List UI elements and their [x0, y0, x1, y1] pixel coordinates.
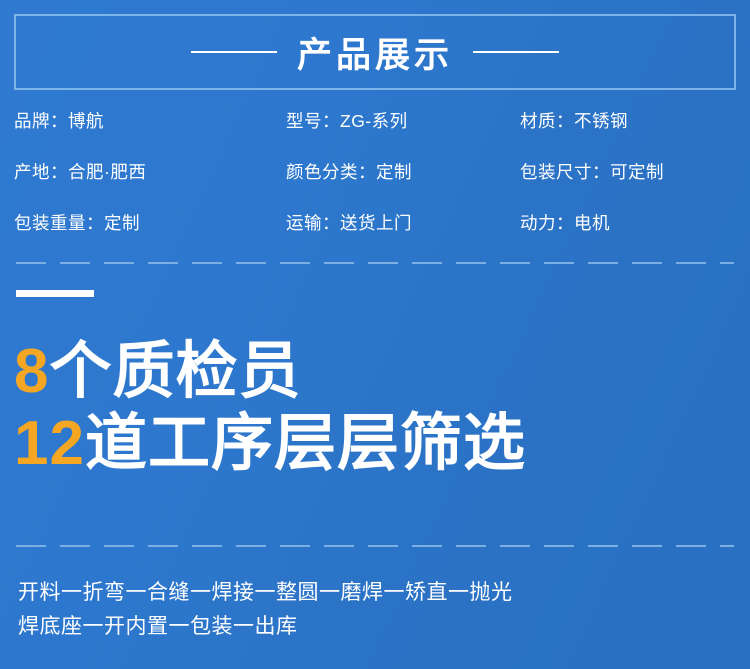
- spec-item-color: 颜色分类：定制: [286, 159, 520, 184]
- headline-block: 8个质检员 12道工序层层筛选: [14, 336, 734, 480]
- page-title: 产品展示: [297, 27, 453, 78]
- spec-item-model: 型号：ZG-系列: [286, 108, 520, 133]
- title-rule-right: [473, 51, 559, 53]
- headline-line-1: 8个质检员: [14, 336, 734, 408]
- spec-item-origin: 产地：合肥·肥西: [14, 159, 286, 184]
- spec-item-package-weight: 包装重量：定制: [14, 210, 286, 235]
- title-rule-left: [191, 51, 277, 53]
- title-banner-inner: 产品展示: [191, 27, 559, 78]
- process-steps-line-1: 开料一折弯一合缝一焊接一整圆一磨焊一矫直一抛光: [18, 576, 728, 610]
- headline-number-processes: 12: [14, 409, 85, 478]
- headline-text-inspectors: 个质检员: [49, 337, 301, 406]
- dashed-divider-bottom: [16, 545, 734, 547]
- headline-text-processes: 道工序层层筛选: [85, 409, 526, 478]
- process-steps-line-2: 焊底座一开内置一包装一出库: [18, 610, 728, 644]
- dashed-divider-top: [16, 262, 734, 264]
- spec-item-shipping: 运输：送货上门: [286, 210, 520, 235]
- accent-bar: [16, 290, 94, 297]
- spec-item-package-size: 包装尺寸：可定制: [520, 159, 736, 184]
- headline-line-2: 12道工序层层筛选: [14, 408, 734, 480]
- spec-item-power: 动力：电机: [520, 210, 736, 235]
- title-banner: 产品展示: [14, 14, 736, 90]
- spec-item-brand: 品牌：博航: [14, 108, 286, 133]
- spec-grid: 品牌：博航 型号：ZG-系列 材质：不锈钢 产地：合肥·肥西 颜色分类：定制 包…: [14, 108, 736, 235]
- spec-item-material: 材质：不锈钢: [520, 108, 736, 133]
- headline-number-inspectors: 8: [14, 337, 49, 406]
- product-showcase-poster: 产品展示 品牌：博航 型号：ZG-系列 材质：不锈钢 产地：合肥·肥西 颜色分类…: [0, 0, 750, 669]
- process-steps: 开料一折弯一合缝一焊接一整圆一磨焊一矫直一抛光 焊底座一开内置一包装一出库: [18, 576, 728, 644]
